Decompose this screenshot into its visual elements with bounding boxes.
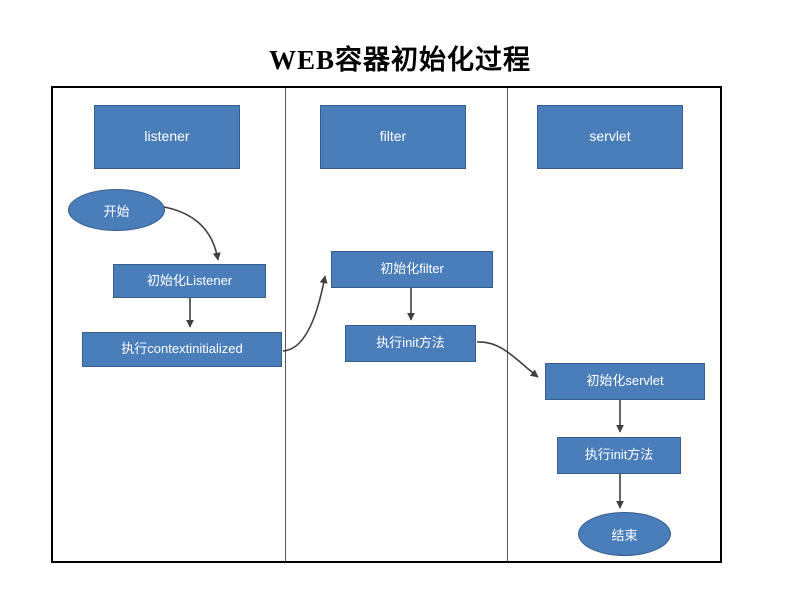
lane-header-servlet[interactable]: servlet: [537, 105, 683, 169]
node-filter-init-method[interactable]: 执行init方法: [345, 325, 476, 362]
lane-header-listener[interactable]: listener: [94, 105, 240, 169]
node-context-initialized[interactable]: 执行contextinitialized: [82, 332, 282, 367]
lane-divider-1: [285, 88, 286, 561]
node-init-filter[interactable]: 初始化filter: [331, 251, 493, 288]
page-title: WEB容器初始化过程: [0, 38, 800, 77]
diagram-canvas: WEB容器初始化过程 listener filter servlet 开始 初始…: [0, 0, 800, 600]
node-servlet-init-method[interactable]: 执行init方法: [557, 437, 681, 474]
node-end[interactable]: 结束: [578, 512, 671, 556]
node-init-listener[interactable]: 初始化Listener: [113, 264, 266, 298]
lane-header-filter[interactable]: filter: [320, 105, 466, 169]
lane-divider-2: [507, 88, 508, 561]
node-init-servlet[interactable]: 初始化servlet: [545, 363, 705, 400]
node-start[interactable]: 开始: [68, 189, 165, 231]
